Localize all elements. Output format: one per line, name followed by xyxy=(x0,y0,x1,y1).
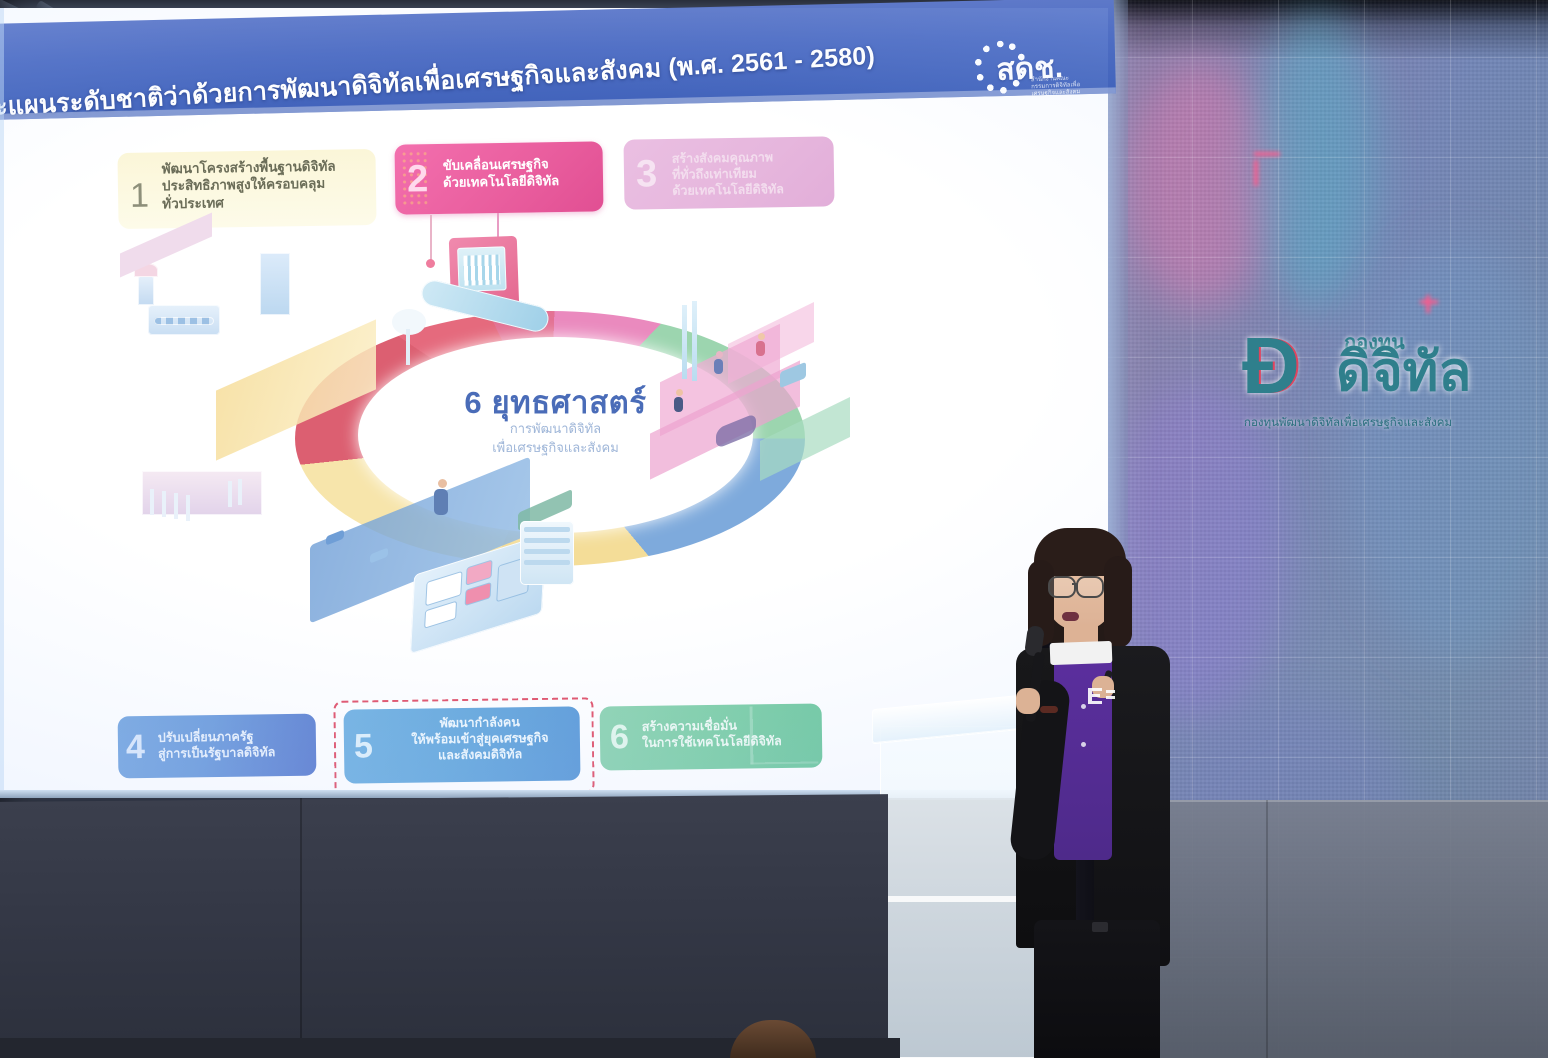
iso-column xyxy=(238,479,242,505)
stage-front-panel xyxy=(0,794,888,1056)
strategy-box-3[interactable]: 3 สร้างสังคมคุณภาพ ที่ทั่วถึงเท่าเทียม ด… xyxy=(623,136,834,209)
strategy-text: พัฒนาโครงสร้างพื้นฐานดิจิทัล ประสิทธิภาพ… xyxy=(162,157,375,212)
led-hotspot xyxy=(1254,152,1280,156)
iso-server-tower xyxy=(520,521,574,585)
iso-gov-building xyxy=(142,471,262,515)
iso-column xyxy=(174,493,178,519)
iso-building xyxy=(260,253,290,315)
strategy-5-highlight-outline xyxy=(333,697,594,797)
iso-server-bars xyxy=(463,254,500,285)
left-hand xyxy=(1016,688,1040,714)
led-hotspot xyxy=(1420,300,1438,304)
iso-column xyxy=(228,481,232,507)
led-hotspot xyxy=(1254,160,1258,186)
digital-fund-banner: Đ กองทุน ดิจิทัล กองทุนพัฒนาดิจิทัลเพื่อ… xyxy=(1236,318,1536,458)
iso-person-body xyxy=(714,359,723,374)
iso-water-tower xyxy=(138,275,154,305)
shirt-button xyxy=(1081,704,1086,709)
scene-root: Đ กองทุน ดิจิทัล กองทุนพัฒนาดิจิทัลเพื่อ… xyxy=(0,0,1548,1058)
stage-panel-seam xyxy=(300,798,302,1052)
strategy-box-6[interactable]: 6 สร้างความเชื่อมั่น ในการใช้เทคโนโลยีดิ… xyxy=(600,703,823,770)
glasses-bridge xyxy=(1072,583,1078,585)
iso-high-rise xyxy=(292,257,318,323)
digital-fund-title-main: ดิจิทัล xyxy=(1336,344,1471,400)
slide-title-bar: ละแผนระดับชาติว่าด้วยการพัฒนาดิจิทัลเพื่… xyxy=(0,0,1116,120)
iso-train-windows xyxy=(154,317,214,325)
iso-ui-card xyxy=(467,561,492,585)
iso-person-body xyxy=(434,489,448,515)
iso-pillar xyxy=(692,301,697,381)
iso-ui-card xyxy=(425,602,456,628)
hair-right xyxy=(1104,556,1132,648)
screen-left-seam xyxy=(0,8,4,790)
strategy-number: 6 xyxy=(610,720,629,754)
iso-person-head xyxy=(758,333,765,340)
iso-hanging-bulb xyxy=(426,259,435,268)
belt-buckle xyxy=(1092,922,1108,932)
iso-person-body xyxy=(674,397,683,412)
strategy-box-1[interactable]: 1 พัฒนาโครงสร้างพื้นฐานดิจิทัล ประสิทธิภ… xyxy=(117,149,376,229)
strategy-text: สร้างสังคมคุณภาพ ที่ทั่วถึงเท่าเทียม ด้ว… xyxy=(672,149,825,199)
projection-screen: ละแผนระดับชาติว่าด้วยการพัฒนาดิจิทัลเพื่… xyxy=(0,8,1108,790)
led-hotspot xyxy=(1426,295,1430,313)
glasses-right-lens xyxy=(1076,576,1104,598)
iso-pole xyxy=(406,329,410,365)
strategy-box-4[interactable]: 4 ปรับเปลี่ยนภาครัฐ สู่การเป็นรัฐบาลดิจิ… xyxy=(118,714,317,779)
mouth xyxy=(1062,612,1079,621)
iso-person-body xyxy=(756,341,765,356)
trousers xyxy=(1034,920,1160,1058)
iso-column xyxy=(186,495,190,521)
strategy-text: สร้างความเชื่อมั่น ในการใช้เทคโนโลยีดิจิ… xyxy=(642,717,814,751)
shirt-button xyxy=(1081,742,1086,747)
onde-logo-subtext: สำนักงานคณะกรรมการดิจิทัลเพื่อเศรษฐกิจแล… xyxy=(1031,75,1088,106)
strategy-number: 4 xyxy=(126,730,145,764)
iso-ui-card xyxy=(426,572,461,605)
isometric-infographic: 6 ยุทธศาสตร์ การพัฒนาดิจิทัล เพื่อเศรษฐก… xyxy=(120,233,950,703)
strategy-text: ขับเคลื่อนเศรษฐกิจ ด้วยเทคโนโลยีดิจิทัล xyxy=(443,155,596,191)
iso-plaza xyxy=(640,293,890,473)
floor-seam-vertical xyxy=(1266,800,1268,1058)
iso-column xyxy=(162,491,166,517)
iso-pillar xyxy=(682,305,687,379)
iso-hanging-wire xyxy=(430,215,432,261)
jacket-logo-badge xyxy=(1088,686,1118,706)
iso-column xyxy=(150,489,154,515)
iso-ui-card xyxy=(466,583,491,605)
strategy-text: ปรับเปลี่ยนภาครัฐ สู่การเป็นรัฐบาลดิจิทั… xyxy=(158,728,308,762)
onde-logo: สดช. สำนักงานคณะกรรมการดิจิทัลเพื่อเศรษฐ… xyxy=(971,33,1086,100)
strategy-number: 1 xyxy=(130,179,149,213)
strategy-box-2[interactable]: 2 ขับเคลื่อนเศรษฐกิจ ด้วยเทคโนโลยีดิจิทั… xyxy=(394,141,603,214)
strategy-number: 3 xyxy=(636,155,658,193)
iso-person-head xyxy=(676,389,683,396)
white-collar xyxy=(1050,641,1113,665)
speaker-person xyxy=(1010,520,1180,1058)
iso-person-head xyxy=(438,479,447,488)
glasses-left-lens xyxy=(1048,576,1076,598)
slide-title: ละแผนระดับชาติว่าด้วยการพัฒนาดิจิทัลเพื่… xyxy=(0,30,978,120)
iso-person-head xyxy=(716,351,723,358)
strategy-number: 2 xyxy=(407,160,429,198)
bracelet xyxy=(1040,706,1058,713)
digital-fund-logomark: Đ xyxy=(1242,326,1300,406)
digital-fund-subtitle: กองทุนพัฒนาดิจิทัลเพื่อเศรษฐกิจและสังคม xyxy=(1244,414,1526,432)
